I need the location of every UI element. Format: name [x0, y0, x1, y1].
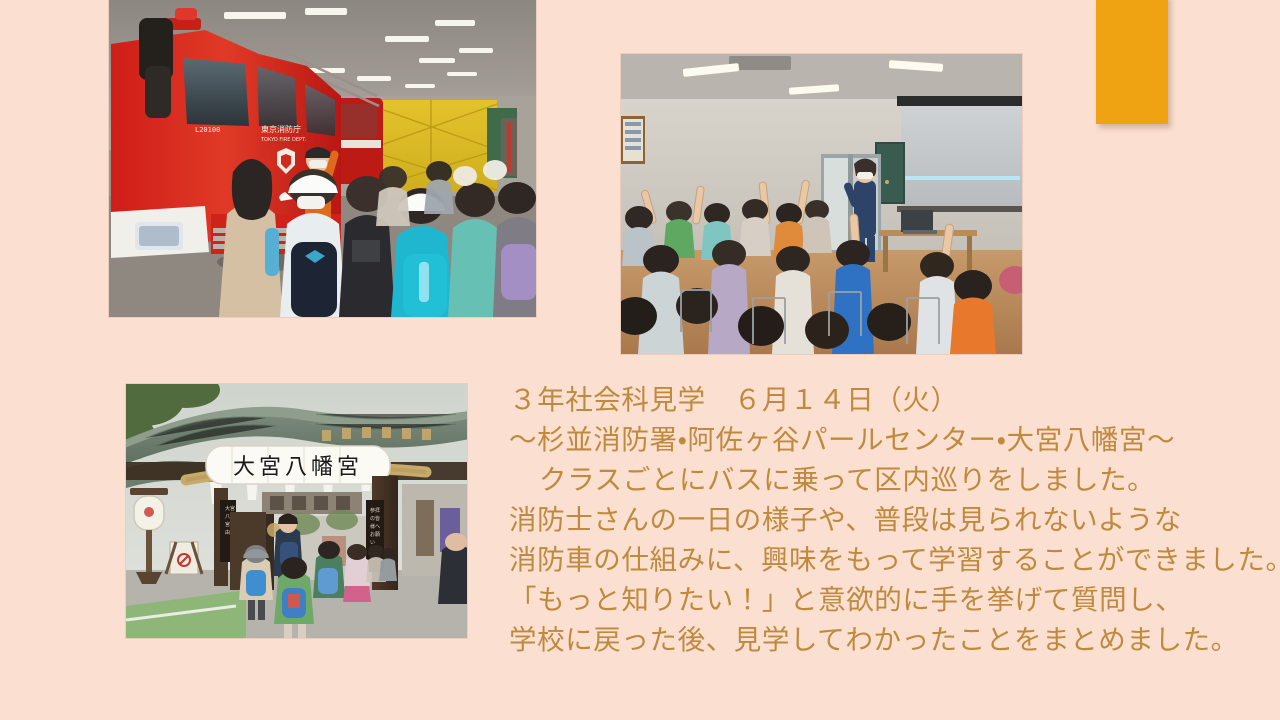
caption-line-5: 消防車の仕組みに、興味をもって学習することができました。: [509, 540, 1239, 580]
caption-line-2: 〜杉並消防署・阿佐ヶ谷パールセンター・大宮八幡宮〜: [509, 420, 1239, 460]
caption-line-3: クラスごとにバスに乗って区内巡りをしました。: [509, 460, 1239, 500]
svg-text:東京消防庁: 東京消防庁: [261, 124, 301, 134]
accent-rectangle: [1096, 0, 1168, 124]
svg-text:大宮: 大宮: [225, 505, 235, 512]
photo-lecture-room-questions: [621, 54, 1022, 354]
photo-omiya-hachimangu-gate: 大宮八幡宮 大宮八幡宮御由緒 参拝の皆様へお願い: [126, 384, 467, 638]
svg-text:お願: お願: [370, 531, 380, 538]
classroom-illustration: [621, 54, 1022, 354]
shrine-gate-illustration: 大宮八幡宮 大宮八幡宮御由緒 参拝の皆様へお願い: [126, 384, 467, 638]
caption-line-4: 消防士さんの一日の様子や、普段は見られないような: [509, 500, 1239, 540]
svg-text:い: い: [370, 540, 375, 546]
caption-line-7: 学校に戻った後、見学してわかったことをまとめました。: [509, 620, 1239, 660]
caption-block: ３年社会科見学 ６月１４日（火） 〜杉並消防署・阿佐ヶ谷パールセンター・大宮八幡…: [509, 380, 1239, 660]
slide-canvas: 東京消防庁 TOKYO FIRE DEPT. L20100: [0, 0, 1280, 720]
svg-text:大宮八幡宮: 大宮八幡宮: [233, 455, 363, 480]
svg-text:TOKYO FIRE DEPT.: TOKYO FIRE DEPT.: [260, 137, 306, 143]
svg-text:様へ: 様へ: [370, 523, 380, 530]
caption-line-1: ３年社会科見学 ６月１４日（火）: [509, 380, 1239, 420]
svg-text:の皆: の皆: [370, 516, 380, 522]
photo-fire-station-visit: 東京消防庁 TOKYO FIRE DEPT. L20100: [109, 0, 536, 317]
svg-text:L20100: L20100: [195, 126, 220, 134]
svg-text:参拝: 参拝: [370, 507, 380, 514]
caption-line-6: 「もっと知りたい！」と意欲的に手を挙げて質問し、: [509, 580, 1239, 620]
fire-station-illustration: 東京消防庁 TOKYO FIRE DEPT. L20100: [109, 0, 536, 317]
